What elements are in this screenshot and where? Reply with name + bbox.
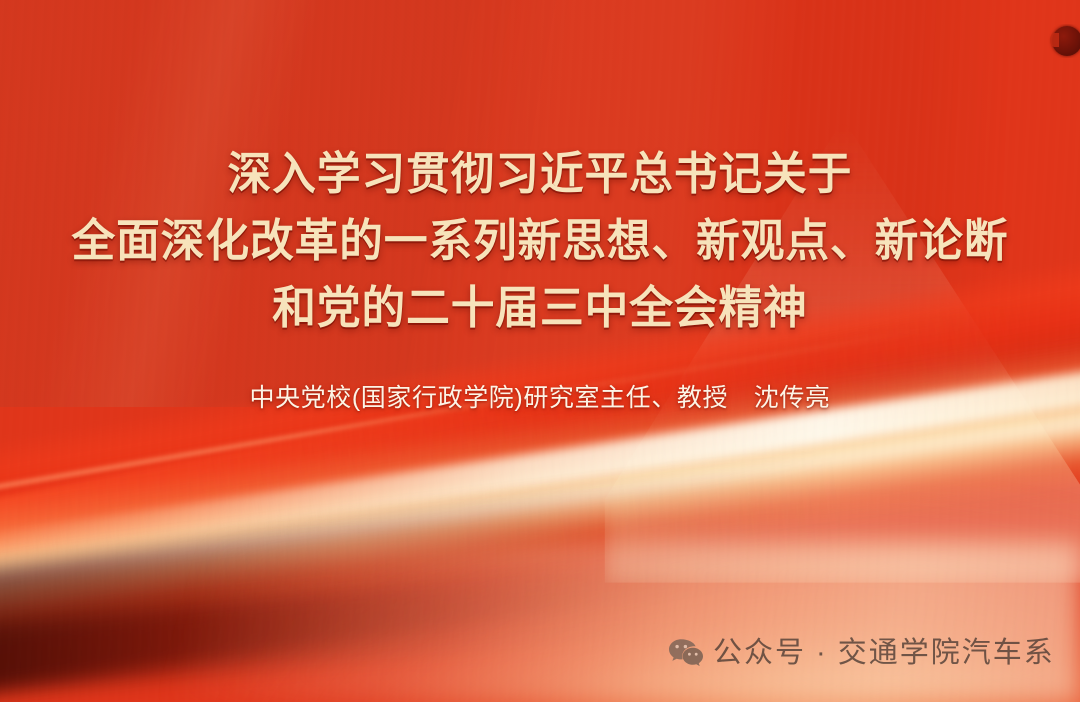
background-bottom-wash <box>0 542 1080 702</box>
seal-notch <box>1050 33 1059 47</box>
seal-logo-icon <box>1046 24 1080 58</box>
title-line-1: 深入学习贯彻习近平总书记关于 <box>16 140 1064 207</box>
wechat-icon <box>668 638 704 669</box>
slide-canvas: 深入学习贯彻习近平总书记关于 全面深化改革的一系列新思想、新观点、新论断 和党的… <box>0 0 1080 702</box>
channel-watermark: 公众号 · 交通学院汽车系 <box>668 636 1055 670</box>
watermark-text: 公众号 · 交通学院汽车系 <box>713 636 1055 670</box>
slide-title: 深入学习贯彻习近平总书记关于 全面深化改革的一系列新思想、新观点、新论断 和党的… <box>0 140 1080 341</box>
title-line-2: 全面深化改革的一系列新思想、新观点、新论断 <box>16 207 1064 274</box>
presenter-subtitle: 中央党校(国家行政学院)研究室主任、教授 沈传亮 <box>0 381 1080 415</box>
title-line-3: 和党的二十届三中全会精神 <box>16 274 1064 341</box>
